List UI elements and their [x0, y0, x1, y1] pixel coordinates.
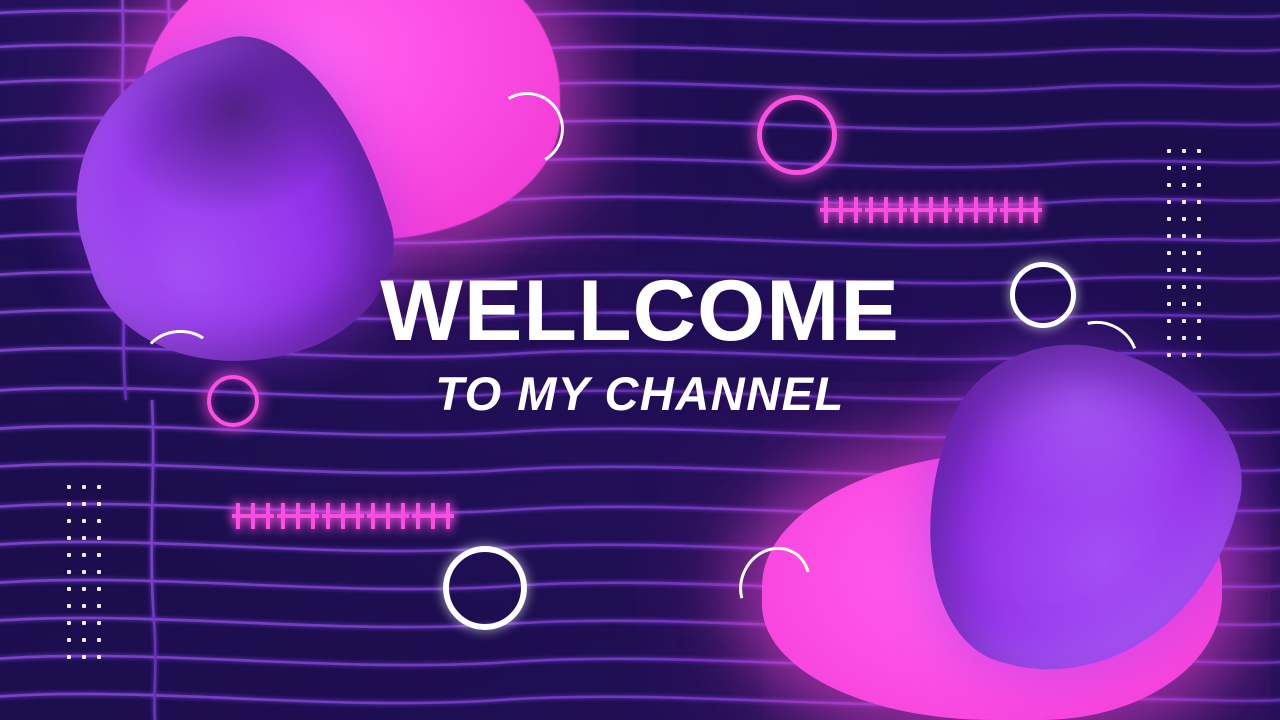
ring-pink-large-top: [757, 95, 837, 175]
tally-marks-lower-left: [236, 502, 450, 530]
dot: [97, 655, 101, 659]
tally-tick: [959, 197, 963, 223]
tally-tick: [914, 197, 918, 223]
tally-tick: [824, 197, 828, 223]
dot: [82, 502, 86, 506]
dot: [1182, 166, 1186, 170]
dot: [1167, 149, 1171, 153]
dot: [67, 655, 71, 659]
dot: [1167, 200, 1171, 204]
dot: [67, 553, 71, 557]
dot: [1167, 234, 1171, 238]
tally-tick: [929, 197, 933, 223]
tally-tick: [446, 503, 450, 529]
dot: [97, 502, 101, 506]
dot: [97, 638, 101, 642]
dot: [67, 502, 71, 506]
dot: [67, 536, 71, 540]
dot: [82, 587, 86, 591]
dot: [82, 638, 86, 642]
dot: [1197, 183, 1201, 187]
tally-tick: [899, 197, 903, 223]
tally-tick: [371, 503, 375, 529]
dot: [1197, 251, 1201, 255]
dot: [97, 570, 101, 574]
tally-tick: [341, 503, 345, 529]
dot: [82, 570, 86, 574]
dot: [1182, 149, 1186, 153]
dot: [1197, 149, 1201, 153]
tally-group: [824, 196, 858, 224]
dot: [1197, 217, 1201, 221]
dot: [82, 604, 86, 608]
dot: [97, 553, 101, 557]
dot: [67, 621, 71, 625]
ring-white-bottom: [443, 546, 527, 630]
tally-group: [869, 196, 903, 224]
tally-group: [959, 196, 993, 224]
dot: [82, 536, 86, 540]
dot: [97, 536, 101, 540]
tally-tick: [869, 197, 873, 223]
tally-tick: [236, 503, 240, 529]
tally-tick: [326, 503, 330, 529]
tally-tick: [416, 503, 420, 529]
subheadline-text: TO MY CHANNEL: [0, 370, 1280, 417]
tally-group: [326, 502, 360, 530]
tally-tick: [386, 503, 390, 529]
dot: [97, 519, 101, 523]
tally-group: [371, 502, 405, 530]
tally-tick: [989, 197, 993, 223]
dot: [97, 604, 101, 608]
tally-tick: [974, 197, 978, 223]
dot: [67, 485, 71, 489]
tally-tick: [296, 503, 300, 529]
tally-group: [1004, 196, 1038, 224]
dot: [67, 638, 71, 642]
tally-group: [281, 502, 315, 530]
dot: [97, 621, 101, 625]
dot: [1167, 183, 1171, 187]
tally-tick: [431, 503, 435, 529]
dot: [82, 655, 86, 659]
tally-tick: [1004, 197, 1008, 223]
tally-tick: [1034, 197, 1038, 223]
tally-group: [236, 502, 270, 530]
tally-tick: [1019, 197, 1023, 223]
dot: [1167, 251, 1171, 255]
dot: [67, 587, 71, 591]
dot: [67, 519, 71, 523]
tally-tick: [356, 503, 360, 529]
dot: [97, 587, 101, 591]
tally-marks-upper-right: [824, 196, 1038, 224]
dot: [1182, 234, 1186, 238]
dot: [82, 621, 86, 625]
dot: [1167, 217, 1171, 221]
welcome-banner: WELLCOME TO MY CHANNEL: [0, 0, 1280, 720]
dot: [82, 485, 86, 489]
dot: [1182, 251, 1186, 255]
tally-tick: [839, 197, 843, 223]
tally-tick: [944, 197, 948, 223]
headline-text: WELLCOME: [0, 268, 1280, 354]
dot: [1182, 217, 1186, 221]
dot: [67, 570, 71, 574]
title-block: WELLCOME TO MY CHANNEL: [0, 268, 1280, 417]
dot: [1197, 234, 1201, 238]
tally-group: [914, 196, 948, 224]
dot: [67, 604, 71, 608]
dot: [1167, 166, 1171, 170]
dot: [1197, 166, 1201, 170]
tally-tick: [854, 197, 858, 223]
dot: [82, 519, 86, 523]
dot: [82, 553, 86, 557]
tally-tick: [311, 503, 315, 529]
dot: [97, 485, 101, 489]
tally-tick: [251, 503, 255, 529]
tally-tick: [884, 197, 888, 223]
dot-grid-left: [62, 478, 106, 665]
dot: [1197, 200, 1201, 204]
tally-group: [416, 502, 450, 530]
dot: [1182, 183, 1186, 187]
tally-tick: [281, 503, 285, 529]
tally-tick: [266, 503, 270, 529]
dot: [1182, 200, 1186, 204]
tally-tick: [401, 503, 405, 529]
